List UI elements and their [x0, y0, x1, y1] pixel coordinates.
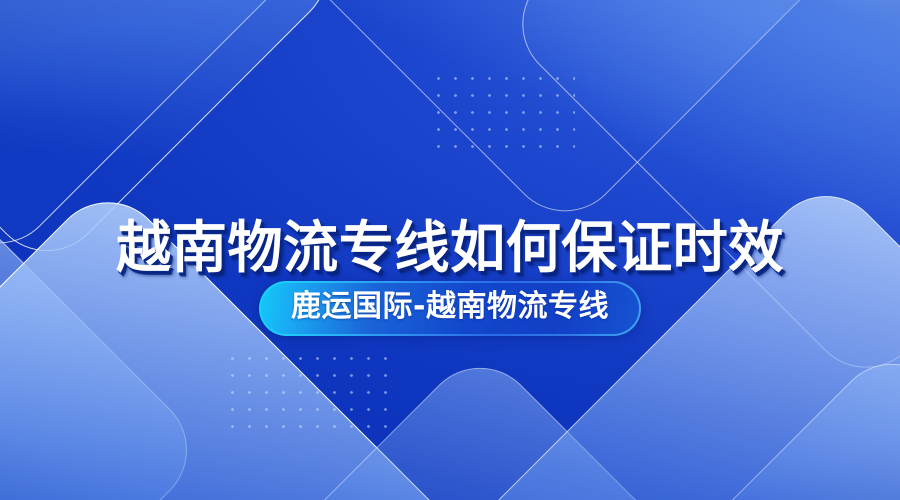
- dot-grid-pattern-top: [430, 70, 575, 160]
- banner-subtitle-container: 鹿运国际-越南物流专线: [0, 281, 900, 336]
- banner-title: 越南物流专线如何保证时效: [116, 218, 784, 280]
- subtitle-pill-label: 鹿运国际-越南物流专线: [261, 283, 639, 333]
- subtitle-pill: 鹿运国际-越南物流专线: [259, 281, 642, 336]
- promo-banner: 越南物流专线如何保证时效 鹿运国际-越南物流专线: [0, 0, 900, 500]
- dot-grid-pattern-bottom: [224, 350, 394, 436]
